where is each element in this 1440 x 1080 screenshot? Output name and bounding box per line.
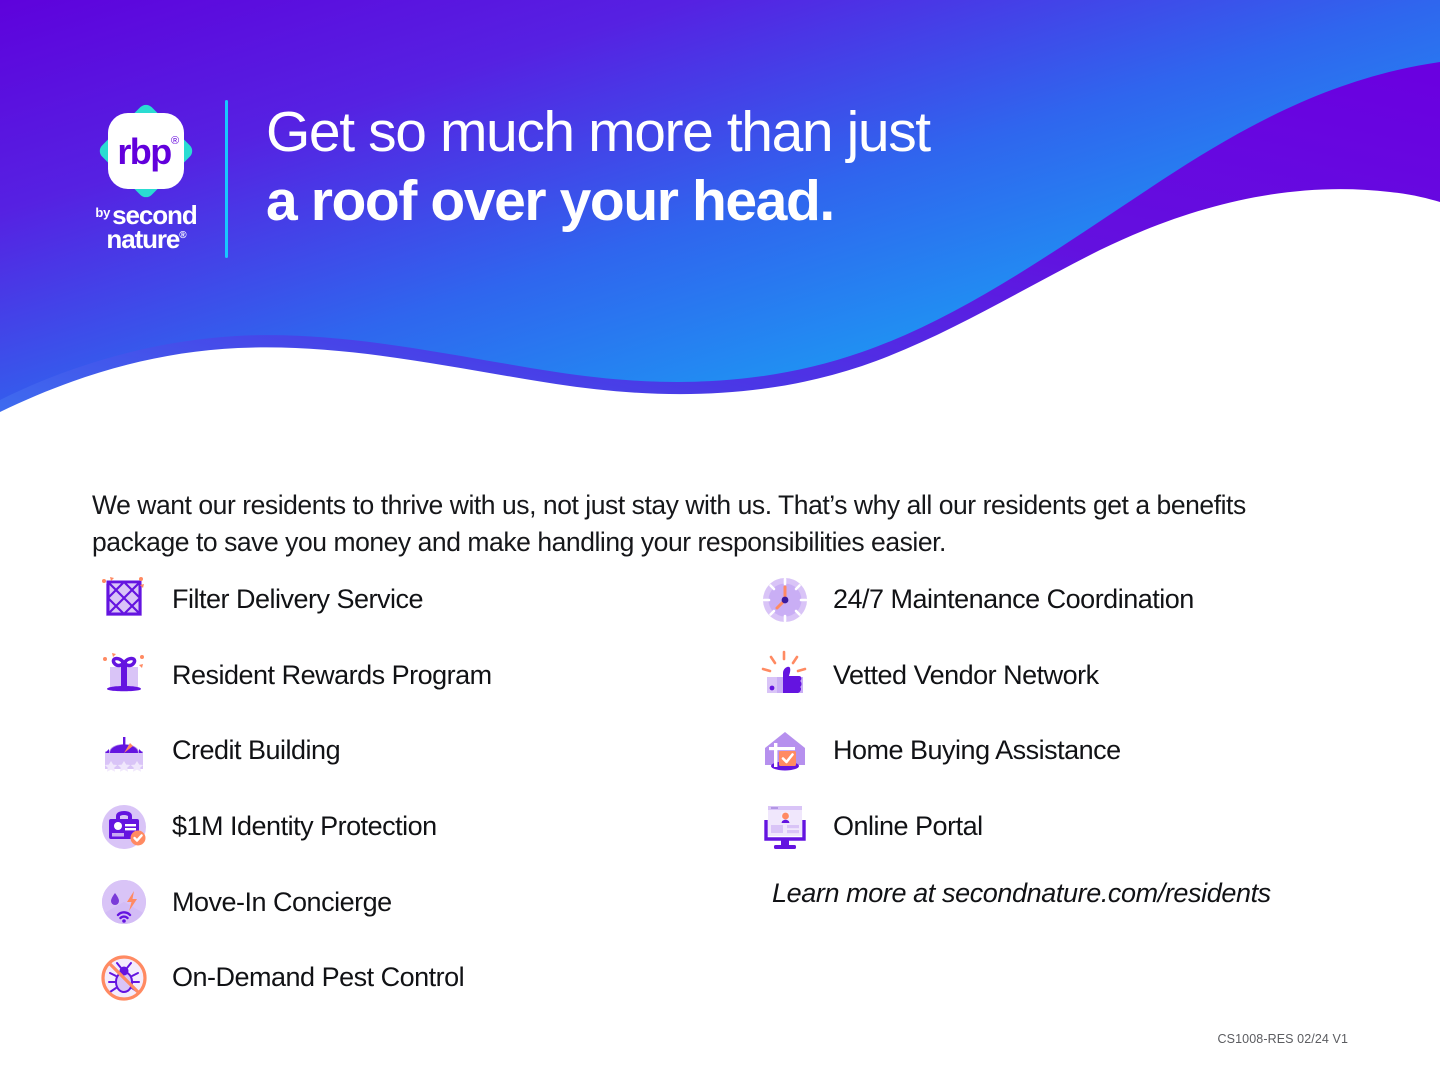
benefit-label: 24/7 Maintenance Coordination	[833, 584, 1194, 615]
benefit-label: Vetted Vendor Network	[833, 660, 1099, 691]
no-pest-icon	[96, 950, 152, 1006]
benefit-item-resident-rewards-program: Resident Rewards Program	[96, 638, 696, 714]
second-nature-wordmark: bysecond nature®	[78, 202, 214, 252]
wordmark-registered-mark: ®	[179, 230, 185, 241]
clock-icon	[757, 572, 813, 628]
benefit-label: Move-In Concierge	[172, 887, 392, 918]
benefit-label: Resident Rewards Program	[172, 660, 492, 691]
gift-box-icon	[96, 647, 152, 703]
logo-rbp-text: rbp	[117, 131, 171, 172]
hero-banner: rbp ® bysecond nature® Get so much more …	[0, 0, 1440, 440]
hero-vertical-divider	[225, 100, 228, 258]
wordmark-by: by	[95, 206, 110, 219]
air-filter-icon	[96, 572, 152, 628]
rbp-logo-mark: rbp ®	[91, 96, 201, 206]
thumbs-up-icon	[757, 647, 813, 703]
benefit-label: Filter Delivery Service	[172, 584, 423, 615]
rbp-logo: rbp ® bysecond nature®	[78, 96, 214, 258]
benefit-item-online-portal: Online Portal	[757, 789, 1397, 865]
desktop-monitor-icon	[757, 799, 813, 855]
logo-registered-mark: ®	[171, 135, 179, 147]
benefit-item-pest-control: On-Demand Pest Control	[96, 940, 696, 1016]
wordmark-nature: nature	[106, 224, 179, 254]
benefit-item-maintenance-coordination: 24/7 Maintenance Coordination	[757, 562, 1397, 638]
flyer-page: rbp ® bysecond nature® Get so much more …	[0, 0, 1440, 1080]
benefit-label: Credit Building	[172, 735, 340, 766]
credit-gauge-icon	[96, 723, 152, 779]
benefit-item-credit-building: Credit Building	[96, 713, 696, 789]
benefit-label: On-Demand Pest Control	[172, 962, 464, 993]
learn-more-text[interactable]: Learn more at secondnature.com/residents	[772, 878, 1271, 909]
benefit-item-filter-delivery-service: Filter Delivery Service	[96, 562, 696, 638]
benefit-label: Online Portal	[833, 811, 983, 842]
benefit-item-identity-protection: $1M Identity Protection	[96, 789, 696, 865]
headline-line-2: a roof over your head.	[266, 173, 930, 230]
benefits-left-column: Filter Delivery Service Resident Rewards…	[96, 562, 696, 1016]
benefits-right-column: 24/7 Maintenance Coordination	[757, 562, 1397, 864]
id-badge-shield-icon	[96, 799, 152, 855]
benefit-item-vetted-vendor-network: Vetted Vendor Network	[757, 638, 1397, 714]
document-code: CS1008-RES 02/24 V1	[1218, 1032, 1348, 1046]
page-title: Get so much more than just a roof over y…	[266, 104, 930, 230]
benefit-label: Home Buying Assistance	[833, 735, 1121, 766]
benefit-label: $1M Identity Protection	[172, 811, 437, 842]
utilities-wedge-icon	[96, 874, 152, 930]
intro-paragraph: We want our residents to thrive with us,…	[92, 487, 1322, 562]
benefit-item-move-in-concierge: Move-In Concierge	[96, 864, 696, 940]
rbp-badge-icon: rbp ®	[91, 96, 201, 206]
house-sold-sign-icon	[757, 723, 813, 779]
benefit-item-home-buying-assistance: Home Buying Assistance	[757, 713, 1397, 789]
headline-line-1: Get so much more than just	[266, 104, 930, 161]
